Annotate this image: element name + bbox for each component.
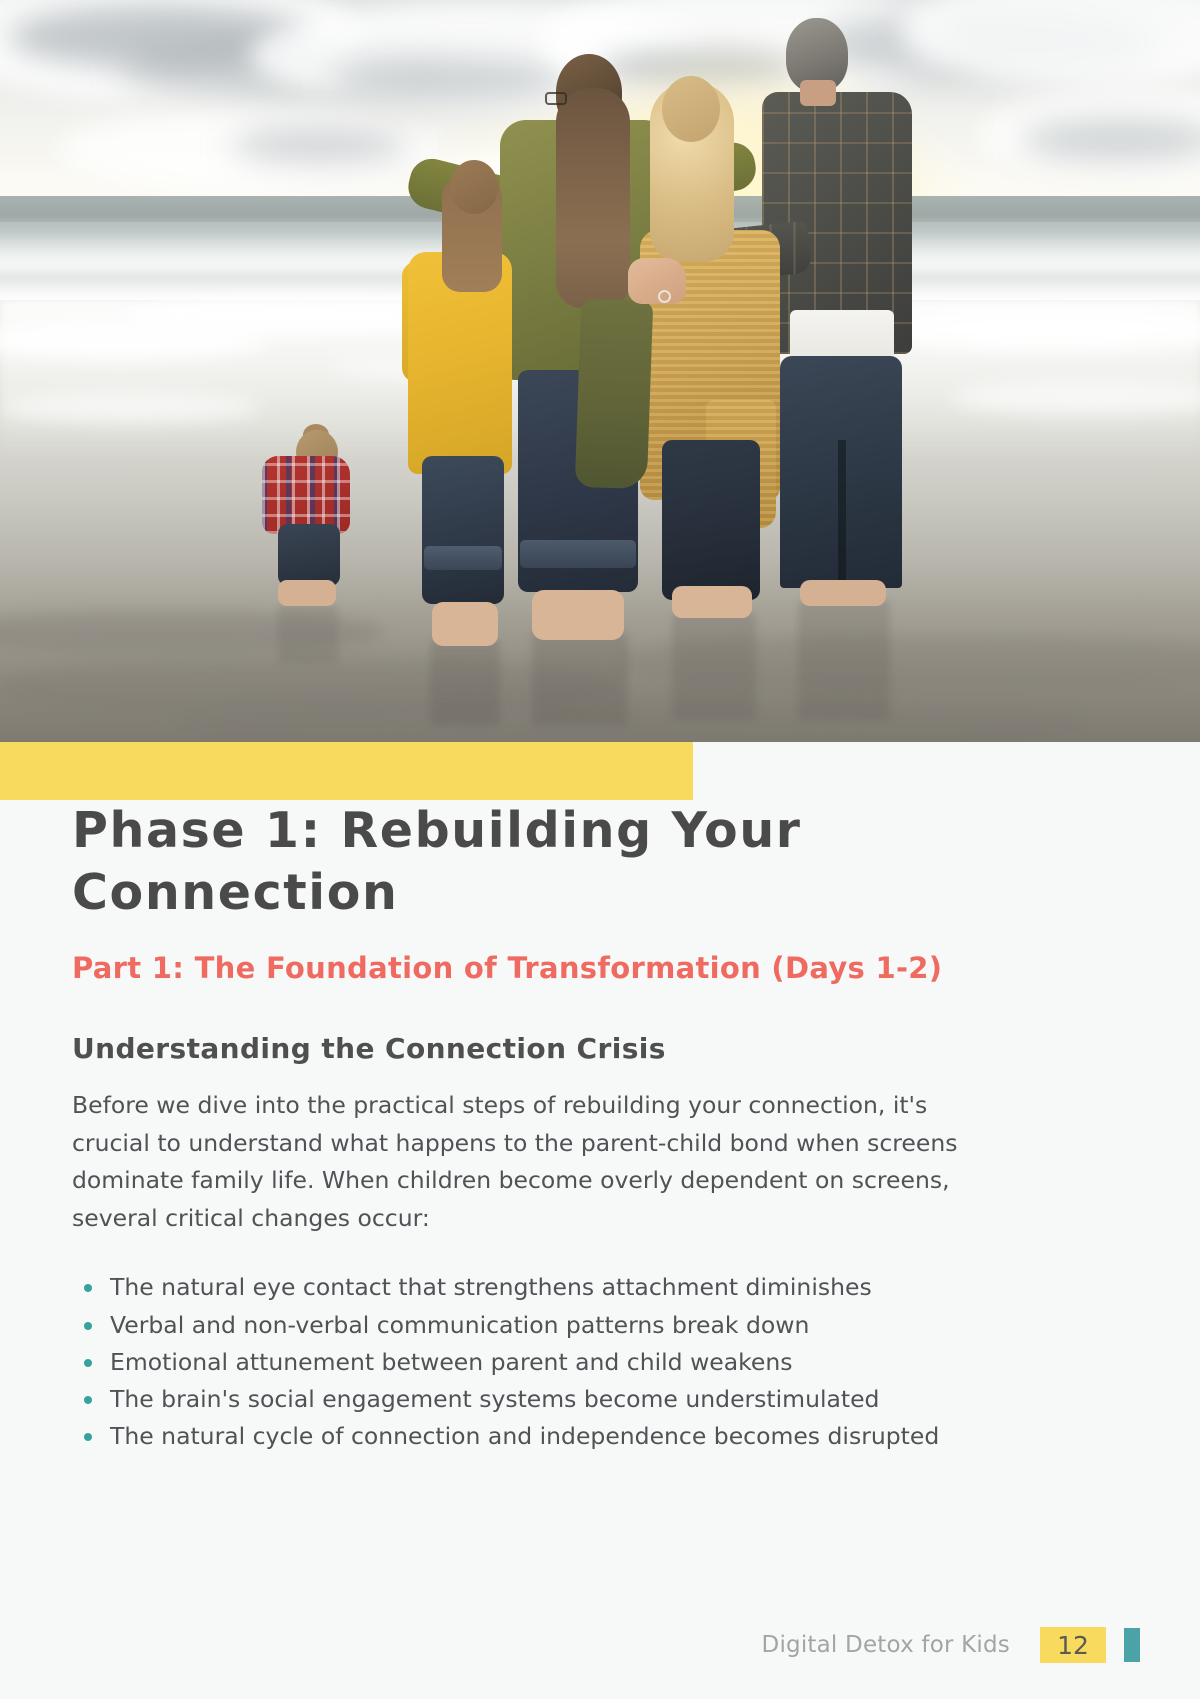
page-subtitle: Part 1: The Foundation of Transformation…: [0, 949, 1200, 988]
yellow-accent-band: [0, 742, 693, 800]
connection-crisis-list: The natural eye contact that strengthens…: [0, 1269, 1200, 1455]
family-beach-sunset-photo: [0, 0, 1200, 742]
glasses-icon: [545, 92, 567, 105]
list-item: The natural cycle of connection and inde…: [110, 1418, 1128, 1455]
hero-image: [0, 0, 1200, 742]
figure-toddler-jeans: [278, 524, 340, 586]
figure-child-left-jeans: [422, 456, 504, 604]
page-number-badge: 12: [1040, 1627, 1106, 1663]
figure-father-neck: [800, 80, 836, 106]
document-page: Phase 1: Rebuilding Your Connection Part…: [0, 0, 1200, 1699]
figure-child-right-feet: [672, 586, 752, 618]
figure-mother-hair: [556, 88, 630, 308]
list-item: The natural eye contact that strengthens…: [110, 1269, 1128, 1306]
list-item: The brain's social engagement systems be…: [110, 1381, 1128, 1418]
figure-hand-with-ring: [628, 258, 686, 304]
page-footer: Digital Detox for Kids 12: [0, 1615, 1200, 1675]
intro-paragraph: Before we dive into the practical steps …: [0, 1087, 1050, 1237]
figure-child-right-head: [662, 76, 720, 142]
figure-father-feet: [800, 580, 886, 606]
list-item: Verbal and non-verbal communication patt…: [110, 1307, 1128, 1344]
footer-book-title: Digital Detox for Kids: [762, 1632, 1010, 1658]
page-content: Phase 1: Rebuilding Your Connection Part…: [0, 800, 1200, 1455]
figure-child-left-feet: [432, 602, 498, 646]
figure-toddler-plaid-shirt: [262, 456, 350, 534]
footer-teal-accent: [1124, 1628, 1140, 1662]
figure-mother-feet: [532, 590, 624, 640]
olive-wrap-drape: [575, 299, 654, 489]
figure-child-right-jeans: [662, 440, 760, 600]
page-title: Phase 1: Rebuilding Your Connection: [0, 800, 1200, 923]
wedding-ring-icon: [658, 290, 671, 303]
figure-child-left-head: [450, 160, 498, 214]
section-heading: Understanding the Connection Crisis: [0, 1032, 1200, 1065]
figure-toddler-feet: [278, 580, 336, 606]
list-item: Emotional attunement between parent and …: [110, 1344, 1128, 1381]
